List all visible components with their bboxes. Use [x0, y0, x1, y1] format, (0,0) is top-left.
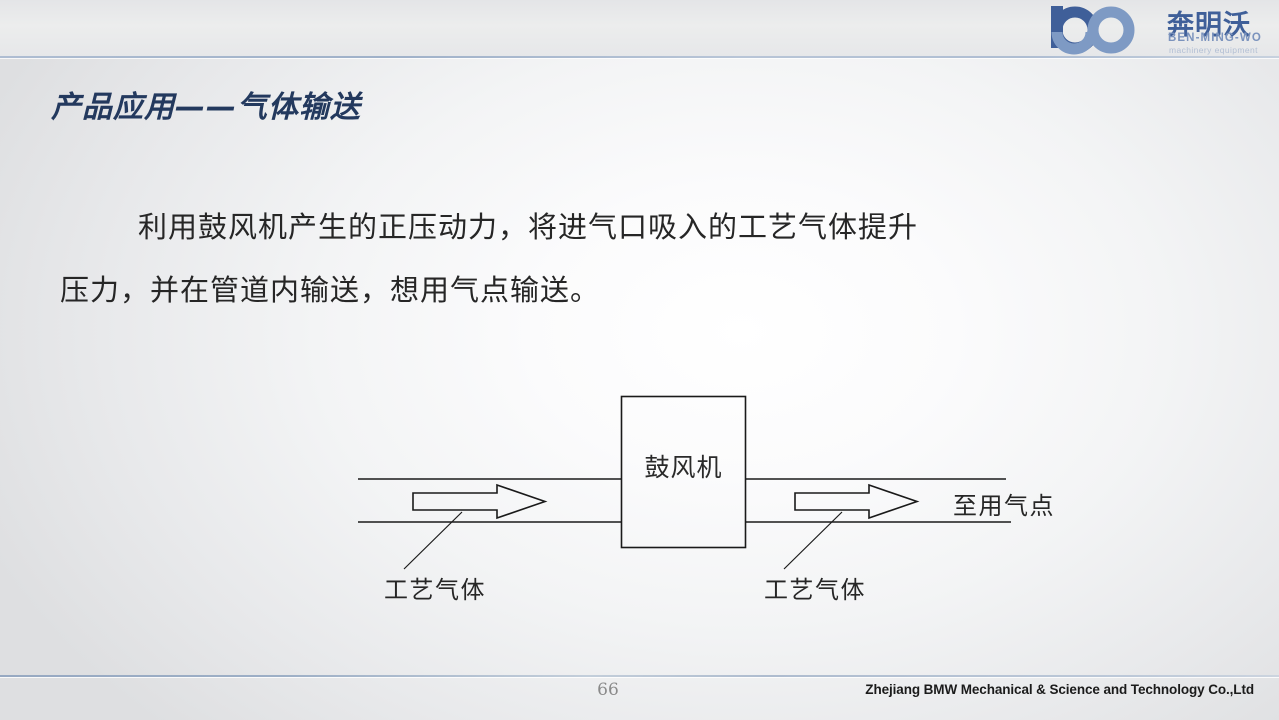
company-logo: 奔明沃 BEN-MING-WO machinery equipment	[1049, 2, 1271, 56]
page-number: 66	[578, 680, 638, 700]
body-line-1: 利用鼓风机产生的正压动力，将进气口吸入的工艺气体提升	[60, 196, 1060, 259]
logo-brand-en: BEN-MING-WO	[1168, 32, 1262, 44]
page-title: 产品应用——气体输送	[51, 82, 361, 126]
leader-line-right	[784, 512, 842, 569]
flow-arrow-left	[413, 485, 545, 518]
outlet-gas-label: 工艺气体	[764, 570, 866, 605]
flow-arrow-right	[795, 485, 917, 518]
footer-divider	[0, 675, 1279, 677]
body-paragraph: 利用鼓风机产生的正压动力，将进气口吸入的工艺气体提升 压力，并在管道内输送，想用…	[60, 196, 1060, 322]
header-divider	[0, 56, 1279, 58]
footer-company-name: Zhejiang BMW Mechanical & Science and Te…	[865, 682, 1254, 697]
slide-canvas: 奔明沃 BEN-MING-WO machinery equipment 产品应用…	[0, 0, 1279, 720]
inlet-gas-label: 工艺气体	[384, 570, 486, 605]
destination-label: 至用气点	[953, 486, 1055, 521]
logo-tagline: machinery equipment	[1169, 45, 1258, 55]
leader-line-left	[404, 512, 462, 569]
blower-label: 鼓风机	[621, 448, 746, 484]
body-line-2: 压力，并在管道内输送，想用气点输送。	[60, 259, 1060, 322]
